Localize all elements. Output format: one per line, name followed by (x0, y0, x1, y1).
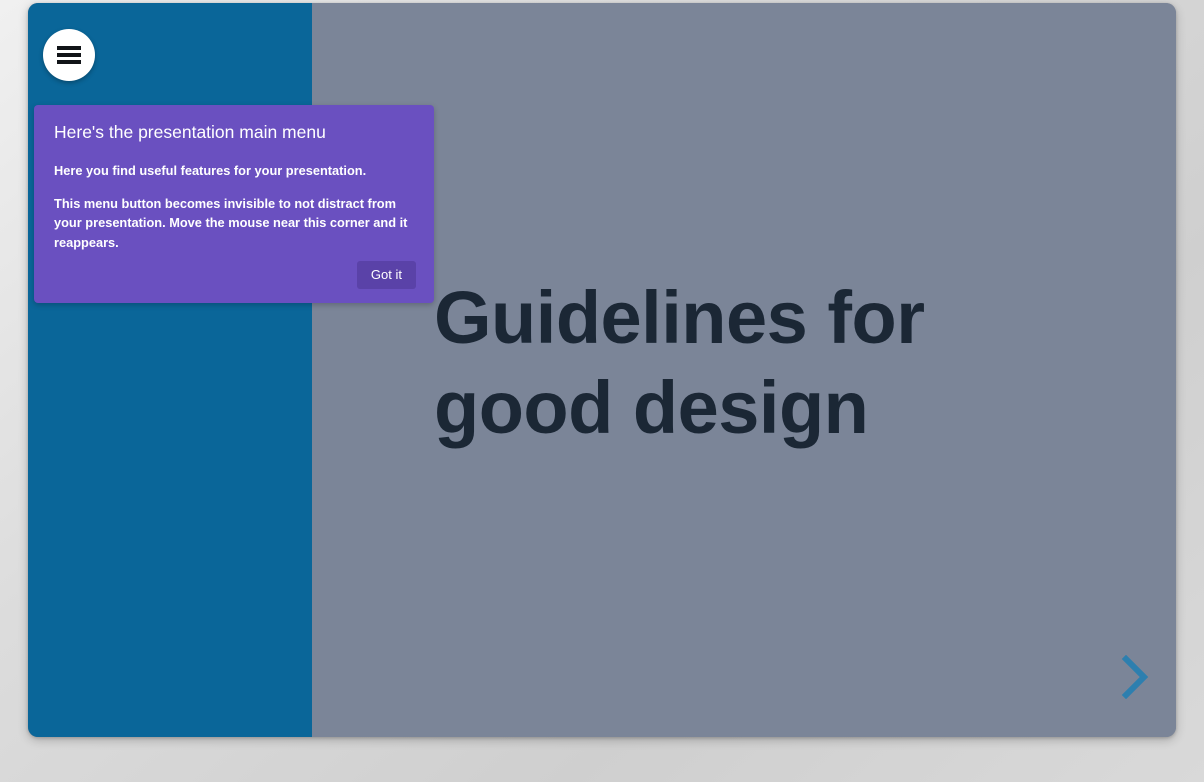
next-slide-button[interactable] (1110, 651, 1160, 703)
got-it-button[interactable]: Got it (357, 261, 416, 289)
tooltip-heading: Here's the presentation main menu (54, 121, 416, 144)
tooltip-actions: Got it (54, 259, 416, 289)
tooltip-paragraph: Here you find useful features for your p… (54, 161, 416, 181)
hamburger-icon (57, 46, 81, 64)
presentation-menu-button[interactable] (43, 29, 95, 81)
onboarding-tooltip: Here's the presentation main menu Here y… (34, 105, 434, 303)
tooltip-paragraph: This menu button becomes invisible to no… (54, 194, 416, 253)
slide-title: Guidelines for good design (434, 273, 994, 454)
chevron-right-icon (1120, 655, 1150, 699)
presentation-stage: Guidelines for good design Here's the pr… (0, 0, 1204, 782)
